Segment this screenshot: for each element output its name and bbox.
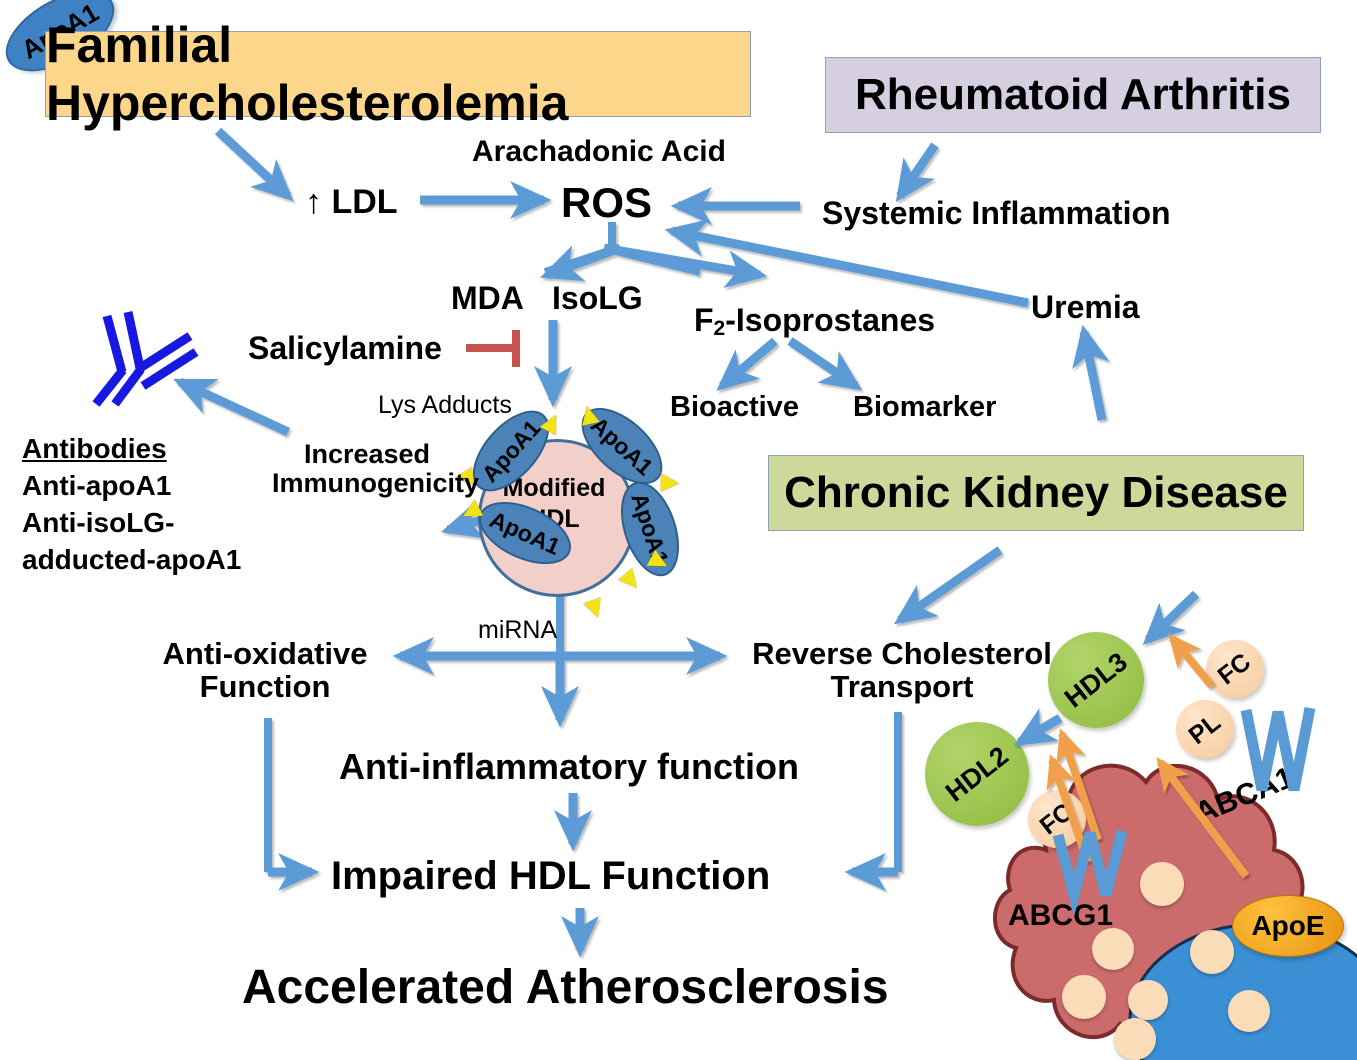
fc-particle: FC <box>1028 790 1086 848</box>
ros-fork-right <box>612 250 700 272</box>
node-anti-oxidative-function: Anti-oxidative Function <box>147 637 383 704</box>
antibody-item: Anti-isoLG- <box>22 508 174 538</box>
box-chronic-kidney-disease[interactable]: Chronic Kidney Disease <box>768 455 1304 531</box>
arrow-apoa1-to-hdl3 <box>1148 594 1196 640</box>
arrow-ros-to-mda-isolg <box>547 248 620 275</box>
node-salicylamine: Salicylamine <box>248 331 442 366</box>
abcg1-label: ABCG1 <box>1008 900 1113 932</box>
node-ldl: ↑ LDL <box>305 184 398 221</box>
arrow-uremia-to-ros <box>672 231 1028 303</box>
node-increased-immunogenicity: Increased Immunogenicity <box>272 440 462 498</box>
inhibition-connector <box>466 330 516 367</box>
node-biomarker: Biomarker <box>853 392 996 423</box>
isolg-adduct-icon <box>578 404 599 425</box>
arrow-ckd-to-uremia <box>1084 332 1102 420</box>
node-systemic-inflammation: Systemic Inflammation <box>822 196 1171 231</box>
lipid-droplet <box>1114 1018 1156 1060</box>
lipid-droplet <box>1190 930 1234 974</box>
node-arachadonic-acid: Arachadonic Acid <box>472 136 726 168</box>
apoe-particle: ApoE <box>1232 895 1344 957</box>
isolg-adduct-icon <box>661 474 680 493</box>
pl-label: PL <box>1183 708 1226 751</box>
pl-particle: PL <box>1176 700 1234 758</box>
box-rheumatoid-arthritis[interactable]: Rheumatoid Arthritis <box>825 57 1321 133</box>
node-ros: ROS <box>561 180 652 225</box>
fc-particle: FC <box>1206 640 1264 698</box>
node-anti-inflammatory-function: Anti-inflammatory function <box>339 748 799 787</box>
node-mirna: miRNA <box>478 617 557 644</box>
antibody-icon <box>96 312 196 404</box>
arrow-ra-to-sysinflam <box>900 145 935 196</box>
antibody-item: Anti-apoA1 <box>22 471 171 501</box>
isolg-adduct-icon <box>583 597 606 620</box>
node-mda: MDA <box>451 281 524 316</box>
arrow-fh-to-ldl <box>218 131 288 196</box>
arrow-f2-to-biomarker <box>790 341 856 386</box>
node-f2-isoprostanes: F2-Isoprostanes <box>694 303 935 341</box>
node-lys-adducts: Lys Adducts <box>378 392 512 419</box>
diagram-canvas: ApoE ABCA1 ABCG1 HDL3 HDL2 FC PL FC ApoA… <box>0 0 1357 1057</box>
node-impaired-hdl-function: Impaired HDL Function <box>331 855 770 898</box>
lipid-droplet <box>1228 990 1270 1032</box>
f2-main: F <box>694 302 714 338</box>
lipid-droplet <box>1140 862 1184 906</box>
box-familial-hypercholesterolemia[interactable]: Familial Hypercholesterolemia <box>45 31 751 117</box>
box-label: Familial Hypercholesterolemia <box>46 16 750 132</box>
hdl3-label: HDL3 <box>1059 646 1134 714</box>
arrow-f2-to-bioactive <box>722 341 775 386</box>
arrow-immunogenicity-to-antibodies <box>180 382 288 432</box>
box-label: Rheumatoid Arthritis <box>855 70 1291 120</box>
arrow-ckd-to-rct <box>900 550 1000 620</box>
ros-fork-left <box>545 250 612 272</box>
lipid-droplet <box>1128 980 1168 1020</box>
antibodies-heading: Antibodies <box>22 434 167 464</box>
arrow-ros-to-f2iso <box>604 248 760 275</box>
hdl2-particle: HDL2 <box>925 722 1029 826</box>
antibody-item: adducted-apoA1 <box>22 545 241 575</box>
lipid-droplet <box>1092 928 1134 970</box>
fc-label: FC <box>1035 797 1079 840</box>
node-reverse-cholesterol-transport: Reverse Cholesterol Transport <box>737 637 1067 704</box>
node-accelerated-atherosclerosis: Accelerated Atherosclerosis <box>242 962 889 1014</box>
hdl2-label: HDL2 <box>940 740 1015 808</box>
isolg-adduct-icon <box>618 568 643 593</box>
f2-tail: -Isoprostanes <box>725 302 935 338</box>
node-uremia: Uremia <box>1031 290 1140 325</box>
node-bioactive: Bioactive <box>670 392 799 423</box>
fc-label: FC <box>1213 647 1257 690</box>
f2-subscript: 2 <box>714 317 726 340</box>
lipid-droplet <box>1062 975 1106 1019</box>
apoe-label: ApoE <box>1251 910 1324 942</box>
node-isolg: IsoLG <box>552 281 643 316</box>
box-label: Chronic Kidney Disease <box>784 468 1288 518</box>
